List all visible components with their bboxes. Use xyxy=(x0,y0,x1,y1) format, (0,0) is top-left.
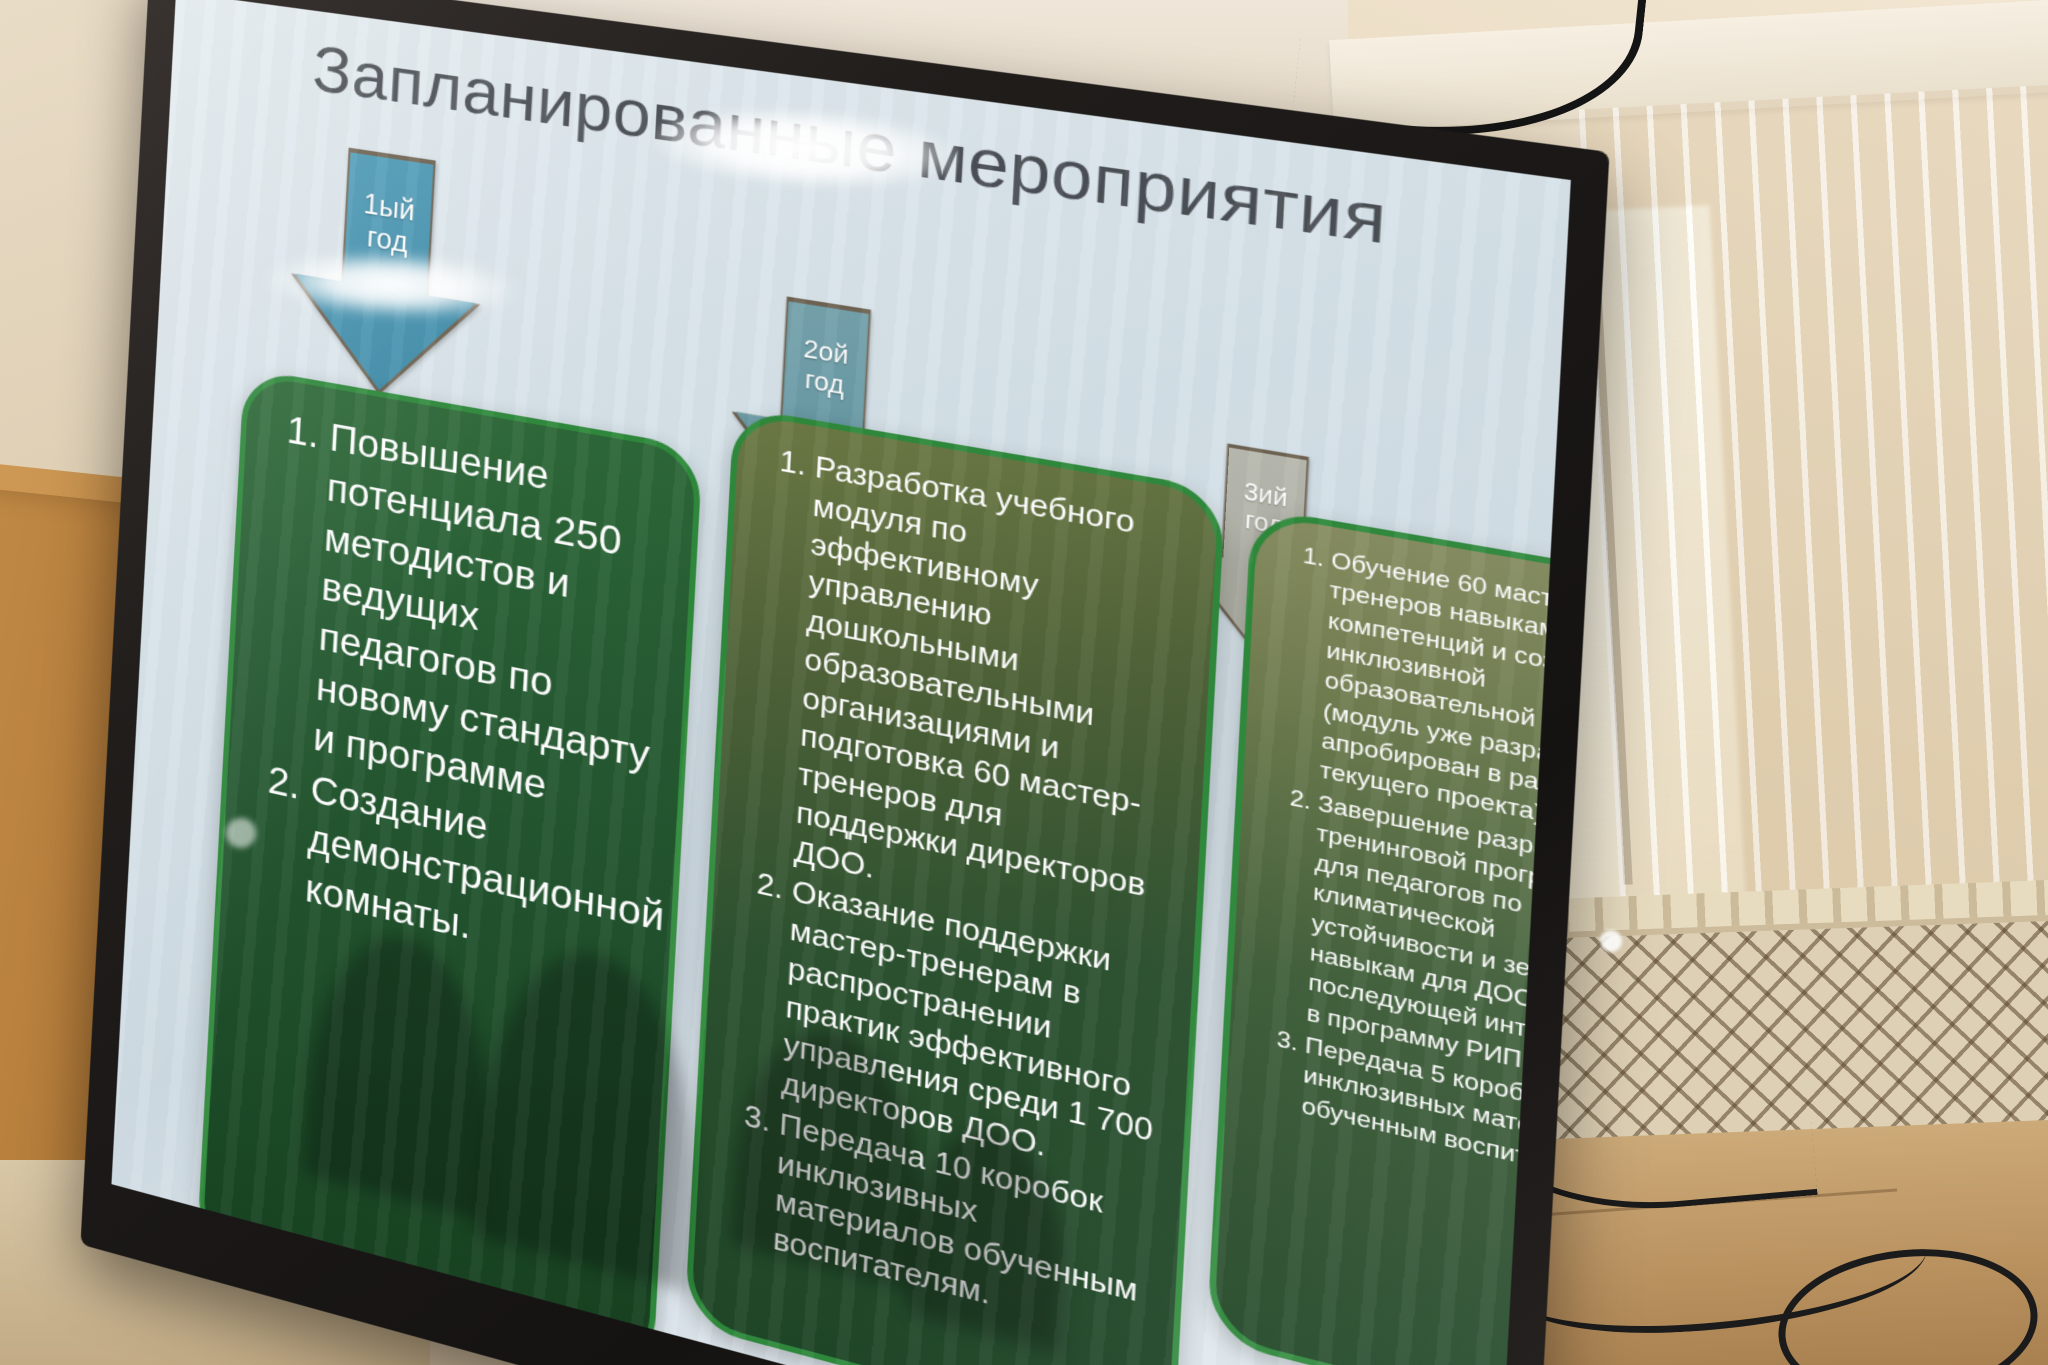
column-year-2: Разработка учебного модуля по эффективно… xyxy=(684,406,1225,1365)
television: Запланированные мероприятия 1ый год 2ой … xyxy=(80,0,1609,1365)
list-item: Повышение потенциала 250 методистов и ве… xyxy=(312,413,671,836)
column-year-1: Повышение потенциала 250 методистов и ве… xyxy=(197,368,703,1365)
tv-bezel: Запланированные мероприятия 1ый год 2ой … xyxy=(80,0,1609,1365)
list-year-3: Обучение 60 мастер-тренеров навыкам мягк… xyxy=(1247,537,1571,1200)
bezel-highlight xyxy=(226,818,256,848)
content-columns: Повышение потенциала 250 методистов и ве… xyxy=(111,0,1570,1365)
presentation-slide: Запланированные мероприятия 1ый год 2ой … xyxy=(111,0,1570,1365)
bezel-highlight xyxy=(1600,930,1622,952)
list-year-1: Повышение потенциала 250 методистов и ве… xyxy=(238,401,671,993)
column-year-3: Обучение 60 мастер-тренеров навыкам мягк… xyxy=(1206,507,1570,1365)
list-item: Разработка учебного модуля по эффективно… xyxy=(793,448,1191,951)
conference-room-scene: Запланированные мероприятия 1ый год 2ой … xyxy=(0,0,2048,1365)
list-year-2: Разработка учебного модуля по эффективно… xyxy=(714,437,1191,1353)
